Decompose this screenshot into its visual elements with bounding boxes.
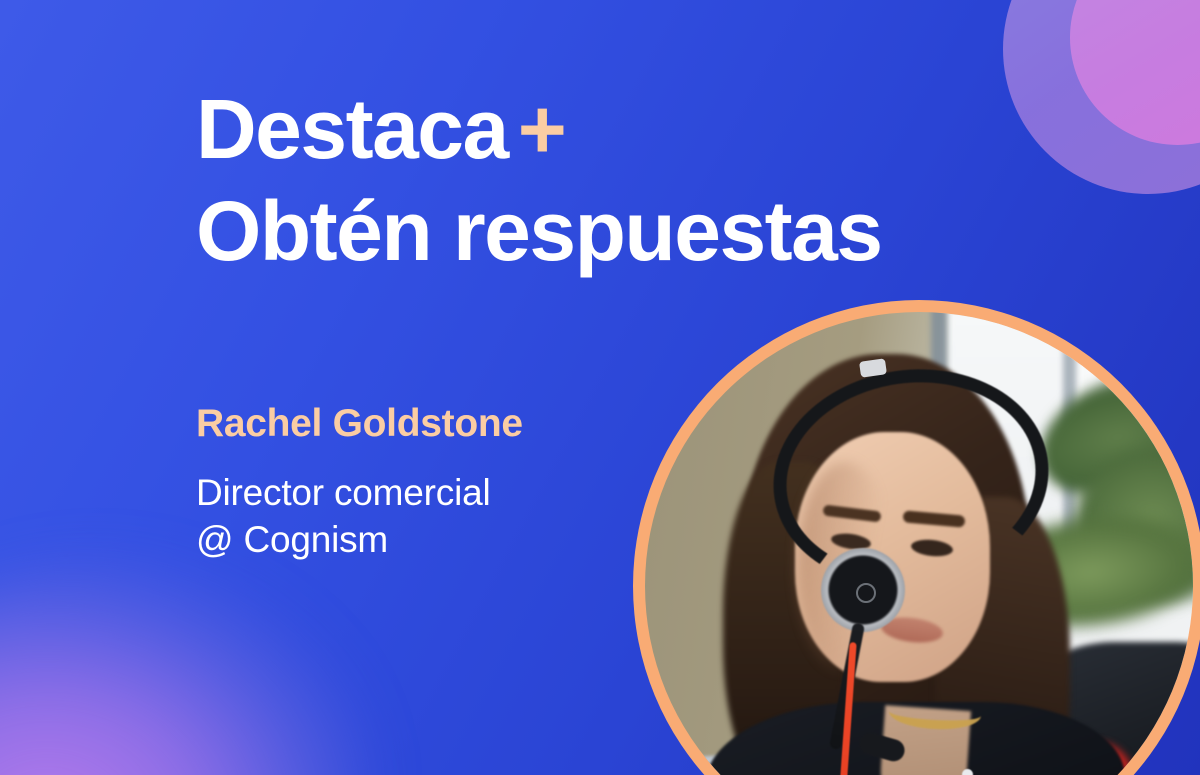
decorative-purple-glow-bottom-left xyxy=(0,560,370,775)
speaker-block: Rachel Goldstone Director comercial @ Co… xyxy=(196,402,636,564)
speaker-portrait-photo xyxy=(645,312,1193,775)
plus-icon: + xyxy=(518,82,566,176)
headset-earcup-detail xyxy=(856,583,876,603)
headline-line-1: Destaca+ xyxy=(196,78,1016,180)
speaker-role-line-2: @ Cognism xyxy=(196,516,636,563)
speaker-name: Rachel Goldstone xyxy=(196,402,636,447)
portrait-ring xyxy=(633,300,1200,775)
webinar-promo-banner: Destaca+ Obtén respuestas Rachel Goldsto… xyxy=(0,0,1200,775)
headline-line-2: Obtén respuestas xyxy=(196,180,1016,282)
headline-line-1-text: Destaca xyxy=(196,82,508,176)
headline: Destaca+ Obtén respuestas xyxy=(196,78,1016,283)
blouse-button xyxy=(962,769,973,775)
speaker-role-line-1: Director comercial xyxy=(196,469,636,516)
